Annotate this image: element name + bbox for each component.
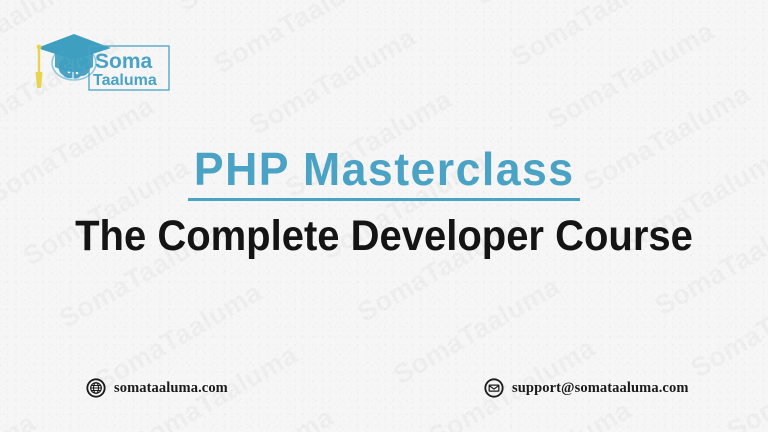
hero-text-block: PHP Masterclass The Complete Developer C… <box>0 146 768 259</box>
page-title: PHP Masterclass <box>194 146 575 193</box>
footer-website-label: somataaluma.com <box>114 380 228 397</box>
slide-canvas: SomaTaaluma SomaTaaluma SomaTaaluma Soma… <box>0 0 768 432</box>
globe-icon <box>86 378 106 398</box>
logo-text-line1: Soma <box>95 50 153 73</box>
hero-title-underline: PHP Masterclass <box>188 146 580 201</box>
footer-email-label: support@somataaluma.com <box>512 380 689 397</box>
footer: somataaluma.com support@somataaluma.com <box>0 378 768 404</box>
footer-website[interactable]: somataaluma.com <box>86 378 228 398</box>
logo-text-line2: Taaluma <box>93 72 157 89</box>
tassel-icon <box>36 45 43 88</box>
envelope-icon <box>484 378 504 398</box>
footer-email[interactable]: support@somataaluma.com <box>484 378 689 398</box>
soma-taaluma-logo[interactable]: Soma Taaluma <box>27 26 171 92</box>
page-subtitle: The Complete Developer Course <box>27 214 741 259</box>
